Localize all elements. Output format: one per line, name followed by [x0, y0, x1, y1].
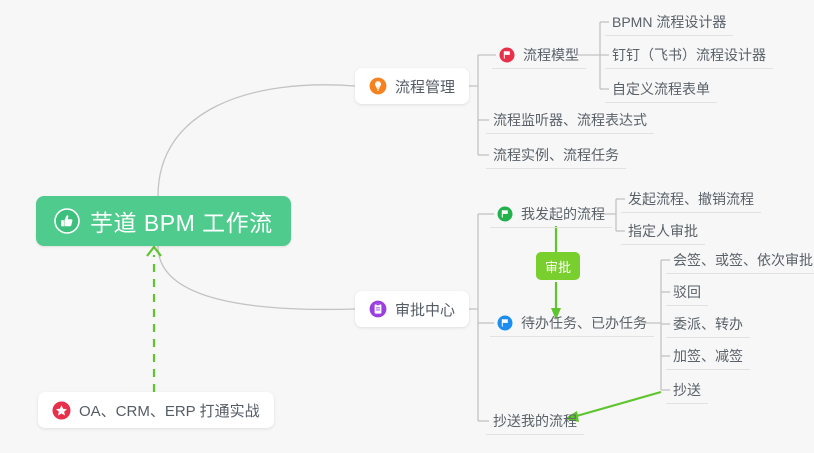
node-label: 发起流程、撤销流程 [628, 192, 754, 206]
node-bpmn-designer[interactable]: BPMN 流程设计器 [605, 8, 733, 36]
node-process-instance-task[interactable]: 流程实例、流程任务 [486, 141, 626, 169]
node-my-initiated-processes[interactable]: 我发起的流程 [490, 200, 612, 228]
flag-icon [497, 315, 513, 331]
node-carbon-copy[interactable]: 抄送 [666, 376, 708, 404]
node-label: 流程监听器、流程表达式 [493, 113, 647, 127]
flag-icon [499, 47, 515, 63]
node-label: 加签、减签 [673, 349, 743, 363]
node-label: 驳回 [673, 285, 701, 299]
node-label: 委派、转办 [673, 317, 743, 331]
branch-label: 审批中心 [395, 299, 455, 320]
branch-approval-center[interactable]: 审批中心 [355, 291, 469, 327]
node-label: OA、CRM、ERP 打通实战 [79, 400, 260, 421]
node-todo-done-tasks[interactable]: 待办任务、已办任务 [490, 309, 654, 337]
node-label: 钉钉（飞书）流程设计器 [612, 48, 766, 62]
callout-approval: 审批 [536, 252, 580, 280]
node-oa-crm-erp-integration[interactable]: OA、CRM、ERP 打通实战 [38, 392, 274, 428]
branch-process-management[interactable]: 流程管理 [355, 68, 469, 104]
node-label: 流程模型 [523, 48, 579, 62]
branch-label: 流程管理 [395, 76, 455, 97]
node-label: 抄送 [673, 383, 701, 397]
bulb-pin-icon [369, 77, 387, 95]
thumbs-up-icon [54, 208, 80, 234]
node-countersign-modes[interactable]: 会签、或签、依次审批 [666, 246, 814, 274]
callout-label: 审批 [545, 257, 571, 276]
node-reject[interactable]: 驳回 [666, 278, 708, 306]
node-process-model[interactable]: 流程模型 [492, 41, 586, 69]
node-start-cancel-process[interactable]: 发起流程、撤销流程 [621, 185, 761, 213]
node-label: 自定义流程表单 [612, 82, 710, 96]
node-custom-process-form[interactable]: 自定义流程表单 [605, 75, 717, 103]
flag-icon [497, 206, 513, 222]
node-process-listener-expression[interactable]: 流程监听器、流程表达式 [486, 106, 654, 134]
node-dingtalk-feishu-designer[interactable]: 钉钉（飞书）流程设计器 [605, 41, 773, 69]
node-label: BPMN 流程设计器 [612, 15, 726, 29]
arrowhead-bottom-to-root [147, 247, 161, 256]
link-root-to-process-management [158, 85, 355, 196]
clipboard-icon [369, 300, 387, 318]
node-label: 抄送我的流程 [493, 414, 577, 428]
root-label: 芋道 BPM 工作流 [90, 204, 273, 238]
root-node[interactable]: 芋道 BPM 工作流 [36, 196, 291, 246]
node-delegate-transfer[interactable]: 委派、转办 [666, 310, 750, 338]
node-add-remove-sign[interactable]: 加签、减签 [666, 342, 750, 370]
link-root-to-approval-center [158, 246, 355, 309]
node-label: 我发起的流程 [521, 207, 605, 221]
node-label: 指定人审批 [628, 224, 698, 238]
node-label: 待办任务、已办任务 [521, 316, 647, 330]
arrow-cc-to-ccmine [573, 392, 661, 417]
mindmap-canvas: 芋道 BPM 工作流 流程管理 流程模型 BPMN 流程设计器 钉钉（飞书）流程 [0, 0, 814, 453]
star-icon [52, 401, 71, 420]
node-cc-to-me-processes[interactable]: 抄送我的流程 [486, 407, 584, 435]
node-label: 流程实例、流程任务 [493, 148, 619, 162]
node-assigned-approver[interactable]: 指定人审批 [621, 217, 705, 245]
node-label: 会签、或签、依次审批 [673, 253, 813, 267]
